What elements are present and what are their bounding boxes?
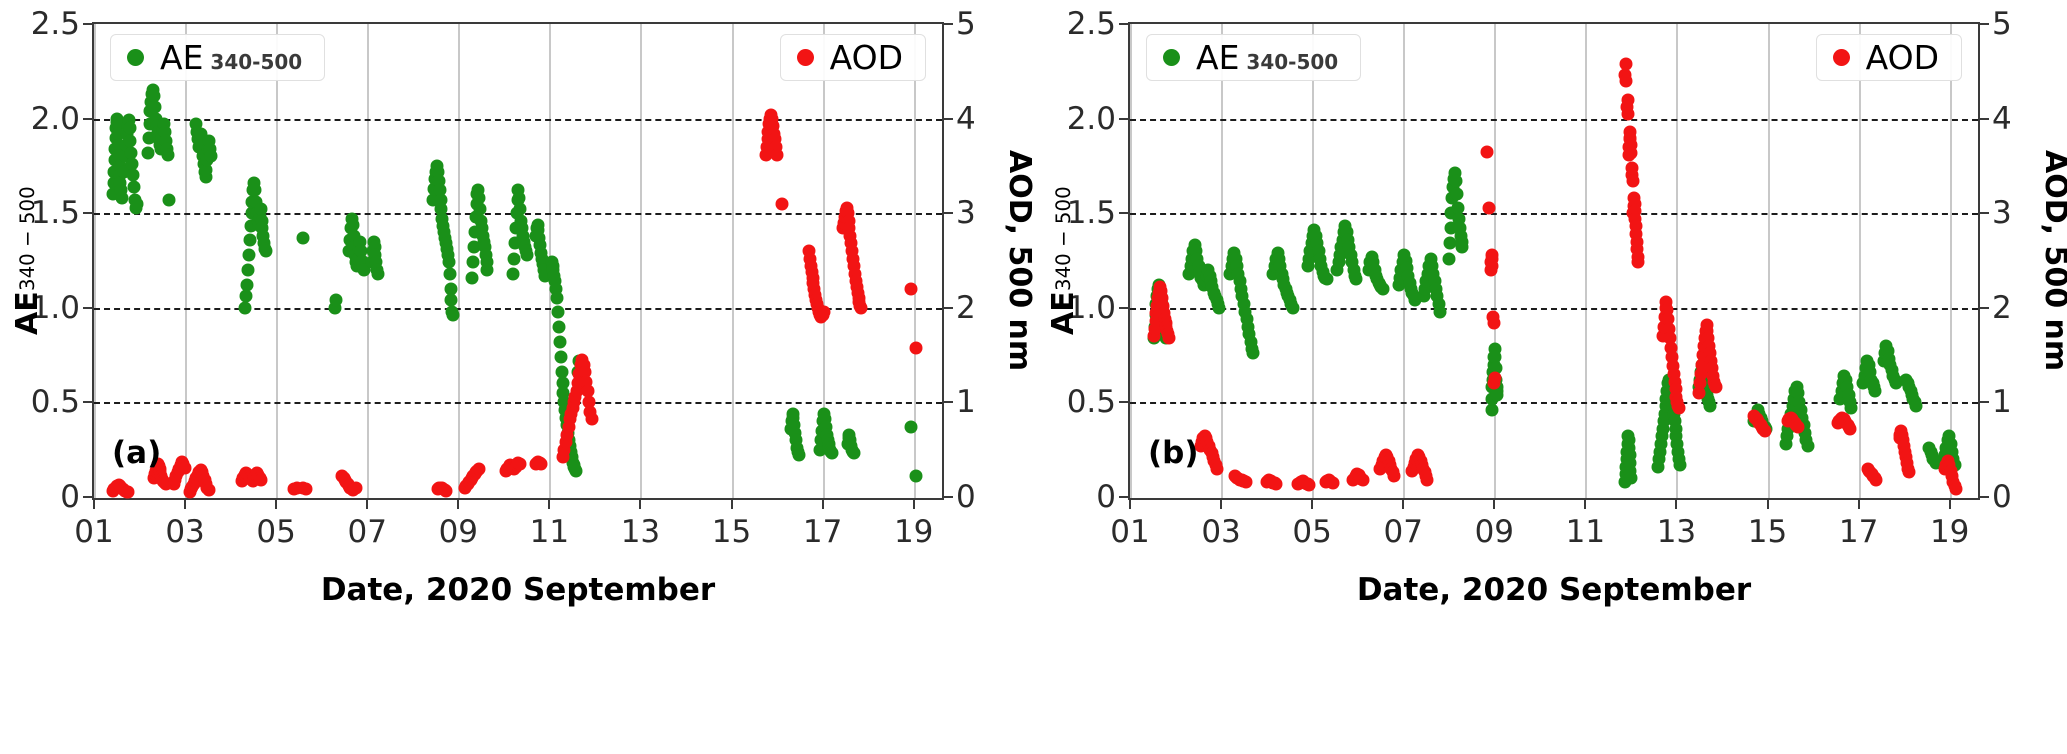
data-point-aod <box>472 462 485 475</box>
figure-root: 00.51.01.52.02.5012345010305070911131517… <box>0 0 2067 754</box>
data-point-ae <box>520 248 533 261</box>
y-axis-right-tick-label: 3 <box>942 195 976 231</box>
data-point-aod <box>585 413 598 426</box>
data-point-ae <box>552 320 565 333</box>
x-gridline <box>94 24 96 498</box>
data-point-aod <box>1621 93 1634 106</box>
data-point-ae <box>1485 403 1498 416</box>
y-axis-left-tick-label: 0 <box>60 479 94 515</box>
y-gridline <box>1130 119 1978 121</box>
y-axis-right-tick-label: 4 <box>1978 101 2012 137</box>
data-point-aod <box>349 482 362 495</box>
data-point-ae <box>1442 252 1455 265</box>
legend-ae[interactable]: AE 340-500 <box>1146 34 1361 81</box>
y-axis-right-tick-label: 3 <box>1978 195 2012 231</box>
panel-tag-b: (b) <box>1148 435 1199 471</box>
data-point-ae <box>1801 439 1814 452</box>
x-gridline <box>276 24 278 498</box>
x-axis-tick-label: 03 <box>165 514 204 550</box>
x-axis-tick-label: 05 <box>256 514 295 550</box>
data-point-aod <box>1487 316 1500 329</box>
data-point-ae <box>826 447 839 460</box>
x-axis-tickmark <box>1675 498 1677 509</box>
data-point-ae <box>481 263 494 276</box>
data-point-ae <box>1704 400 1717 413</box>
x-axis-tickmark <box>639 498 641 509</box>
x-axis-title: Date, 2020 September <box>1128 572 1980 608</box>
data-point-aod <box>1388 470 1401 483</box>
data-point-ae <box>1624 472 1637 485</box>
data-point-aod <box>299 483 312 496</box>
y-axis-right-tick-label: 2 <box>1978 290 2012 326</box>
data-point-ae <box>466 256 479 269</box>
data-point-ae <box>1376 282 1389 295</box>
y-gridline <box>94 402 942 404</box>
legend-label-aod: AOD <box>830 41 903 74</box>
x-axis-tickmark <box>1402 498 1404 509</box>
data-point-ae <box>551 292 564 305</box>
data-point-ae <box>297 231 310 244</box>
data-point-aod <box>1625 146 1638 159</box>
data-point-aod <box>1210 462 1223 475</box>
data-point-ae <box>260 245 273 258</box>
data-point-aod <box>1270 477 1283 490</box>
x-gridline <box>1221 24 1223 498</box>
data-point-ae <box>1491 388 1504 401</box>
y-axis-right-tick-label: 5 <box>1978 6 2012 42</box>
y-axis-right-tick-label: 5 <box>942 6 976 42</box>
data-point-ae <box>792 449 805 462</box>
data-point-aod <box>1303 478 1316 491</box>
data-point-aod <box>1486 260 1499 273</box>
data-point-aod <box>909 341 922 354</box>
x-axis-tick-label: 19 <box>1930 514 1969 550</box>
data-point-ae <box>116 192 129 205</box>
data-point-ae <box>243 233 256 246</box>
data-point-aod <box>770 148 783 161</box>
y-axis-left-title-sub: 340 − 500 <box>16 187 39 292</box>
y-axis-left-tick-label: 0 <box>1096 479 1130 515</box>
data-point-ae <box>123 122 136 135</box>
data-point-ae <box>205 150 218 163</box>
data-point-ae <box>161 148 174 161</box>
legend-marker-ae-icon <box>1163 49 1180 66</box>
legend-ae[interactable]: AE 340-500 <box>110 34 325 81</box>
x-axis-tickmark <box>1493 498 1495 509</box>
x-axis-tickmark <box>1311 498 1313 509</box>
data-point-ae <box>1450 175 1463 188</box>
data-point-ae <box>1350 273 1363 286</box>
y-axis-right-tick-label: 1 <box>942 384 976 420</box>
data-point-ae <box>241 263 254 276</box>
y-axis-left-title-main: AE <box>1046 291 1081 335</box>
x-axis-tick-label: 01 <box>1110 514 1149 550</box>
data-point-aod <box>1626 175 1639 188</box>
data-point-ae <box>240 290 253 303</box>
x-axis-tickmark <box>366 498 368 509</box>
data-point-ae <box>241 279 254 292</box>
data-point-aod <box>1163 332 1176 345</box>
data-point-aod <box>1622 107 1635 120</box>
data-point-aod <box>1709 381 1722 394</box>
data-point-ae <box>1909 400 1922 413</box>
data-point-aod <box>1488 371 1501 384</box>
x-axis-tick-label: 11 <box>1566 514 1605 550</box>
x-axis-tick-label: 09 <box>1475 514 1514 550</box>
x-gridline <box>1950 24 1952 498</box>
legend-marker-aod-icon <box>1833 49 1850 66</box>
legend-aod[interactable]: AOD <box>1816 34 1962 81</box>
data-point-aod <box>1619 57 1632 70</box>
x-axis-tickmark <box>822 498 824 509</box>
data-point-ae <box>506 267 519 280</box>
x-gridline <box>1130 24 1132 498</box>
data-point-ae <box>443 267 456 280</box>
data-point-aod <box>1626 161 1639 174</box>
data-point-ae <box>1320 273 1333 286</box>
legend-label-ae: AE 340-500 <box>160 41 302 74</box>
x-axis-tickmark <box>548 498 550 509</box>
data-point-aod <box>1632 256 1645 269</box>
data-point-ae <box>128 180 141 193</box>
panel-tag-a: (a) <box>112 435 161 471</box>
x-axis-tick-label: 01 <box>74 514 113 550</box>
y-axis-right-tick-label: 2 <box>942 290 976 326</box>
y-axis-left-title: AE340 − 500 <box>10 22 45 500</box>
x-axis-tickmark <box>1949 498 1951 509</box>
data-point-aod <box>817 305 830 318</box>
panel-b: 00.51.01.52.02.5012345010305070911131517… <box>1033 0 2067 754</box>
data-point-aod <box>1421 473 1434 486</box>
data-point-ae <box>131 197 144 210</box>
legend-marker-ae-icon <box>127 49 144 66</box>
x-axis-tick-label: 17 <box>803 514 842 550</box>
data-point-aod <box>178 461 191 474</box>
data-point-aod <box>1326 476 1339 489</box>
x-gridline <box>732 24 734 498</box>
y-gridline <box>1130 213 1978 215</box>
data-point-aod <box>1791 420 1804 433</box>
data-point-ae <box>1456 241 1469 254</box>
legend-aod[interactable]: AOD <box>780 34 926 81</box>
data-point-ae <box>465 271 478 284</box>
x-gridline <box>640 24 642 498</box>
x-axis-title: Date, 2020 September <box>92 572 944 608</box>
y-axis-right-title: AOD, 500 nm <box>2038 22 2067 500</box>
y-axis-right-tick-label: 4 <box>942 101 976 137</box>
data-point-ae <box>507 252 520 265</box>
data-point-ae <box>239 301 252 314</box>
x-gridline <box>185 24 187 498</box>
x-gridline <box>1585 24 1587 498</box>
data-point-ae <box>848 447 861 460</box>
y-axis-right-title: AOD, 500 nm <box>1002 22 1037 500</box>
data-point-ae <box>554 350 567 363</box>
plot-area-a: 00.51.01.52.02.5012345010305070911131517… <box>92 22 944 500</box>
x-axis-tick-label: 09 <box>439 514 478 550</box>
x-axis-tickmark <box>913 498 915 509</box>
data-point-ae <box>447 309 460 322</box>
data-point-ae <box>1286 301 1299 314</box>
legend-marker-aod-icon <box>797 49 814 66</box>
data-point-ae <box>163 193 176 206</box>
x-axis-tick-label: 13 <box>1657 514 1696 550</box>
x-axis-tick-label: 15 <box>712 514 751 550</box>
x-axis-tickmark <box>1129 498 1131 509</box>
data-point-ae <box>905 420 918 433</box>
x-axis-tickmark <box>1858 498 1860 509</box>
x-axis-tick-label: 03 <box>1201 514 1240 550</box>
data-point-ae <box>552 305 565 318</box>
data-point-aod <box>905 282 918 295</box>
x-axis-tickmark <box>93 498 95 509</box>
x-axis-tickmark <box>1220 498 1222 509</box>
x-axis-tick-label: 19 <box>894 514 933 550</box>
data-point-aod <box>202 484 215 497</box>
plot-area-b: 00.51.01.52.02.5012345010305070911131517… <box>1128 22 1980 500</box>
x-axis-tick-label: 07 <box>347 514 386 550</box>
y-axis-right-tick-label: 0 <box>942 479 976 515</box>
data-point-aod <box>1620 74 1633 87</box>
data-point-ae <box>372 267 385 280</box>
y-axis-left-title: AE340 − 500 <box>1046 22 1081 500</box>
data-point-aod <box>440 485 453 498</box>
y-axis-right-tick-label: 0 <box>1978 479 2012 515</box>
data-point-ae <box>1869 385 1882 398</box>
data-point-aod <box>775 197 788 210</box>
data-point-ae <box>1247 347 1260 360</box>
x-axis-tick-label: 13 <box>621 514 660 550</box>
y-axis-left-title-main: AE <box>10 291 45 335</box>
x-axis-tickmark <box>1584 498 1586 509</box>
x-axis-tick-label: 07 <box>1383 514 1422 550</box>
x-gridline <box>1859 24 1861 498</box>
y-gridline <box>94 119 942 121</box>
x-axis-tickmark <box>457 498 459 509</box>
data-point-ae <box>1213 301 1226 314</box>
data-point-ae <box>909 470 922 483</box>
x-axis-tick-label: 15 <box>1748 514 1787 550</box>
data-point-aod <box>1356 473 1369 486</box>
data-point-aod <box>1869 473 1882 486</box>
data-point-aod <box>1481 145 1494 158</box>
data-point-ae <box>330 294 343 307</box>
x-axis-tickmark <box>731 498 733 509</box>
data-point-aod <box>1482 201 1495 214</box>
y-axis-right-tick-label: 1 <box>1978 384 2012 420</box>
data-point-aod <box>1950 483 1963 496</box>
data-point-ae <box>242 248 255 261</box>
y-gridline <box>1130 308 1978 310</box>
panel-a: 00.51.01.52.02.5012345010305070911131517… <box>0 0 1033 754</box>
data-point-aod <box>1902 466 1915 479</box>
x-axis-tick-label: 05 <box>1292 514 1331 550</box>
x-axis-tickmark <box>184 498 186 509</box>
data-point-aod <box>1758 424 1771 437</box>
x-gridline <box>458 24 460 498</box>
data-point-aod <box>855 301 868 314</box>
data-point-aod <box>1239 475 1252 488</box>
legend-label-aod: AOD <box>1866 41 1939 74</box>
data-point-aod <box>122 486 135 499</box>
data-point-ae <box>553 335 566 348</box>
y-axis-left-title-sub: 340 − 500 <box>1052 187 1075 292</box>
data-point-aod <box>1673 402 1686 415</box>
x-axis-tickmark <box>275 498 277 509</box>
data-point-ae <box>1450 188 1463 201</box>
data-point-ae <box>570 464 583 477</box>
data-point-ae <box>1434 305 1447 318</box>
data-point-ae <box>1674 458 1687 471</box>
x-axis-tickmark <box>1767 498 1769 509</box>
data-point-aod <box>513 457 526 470</box>
legend-label-ae: AE 340-500 <box>1196 41 1338 74</box>
data-point-aod <box>1844 422 1857 435</box>
data-point-ae <box>141 146 154 159</box>
data-point-aod <box>255 473 268 486</box>
x-axis-tick-label: 11 <box>530 514 569 550</box>
data-point-aod <box>535 457 548 470</box>
x-axis-tick-label: 17 <box>1839 514 1878 550</box>
